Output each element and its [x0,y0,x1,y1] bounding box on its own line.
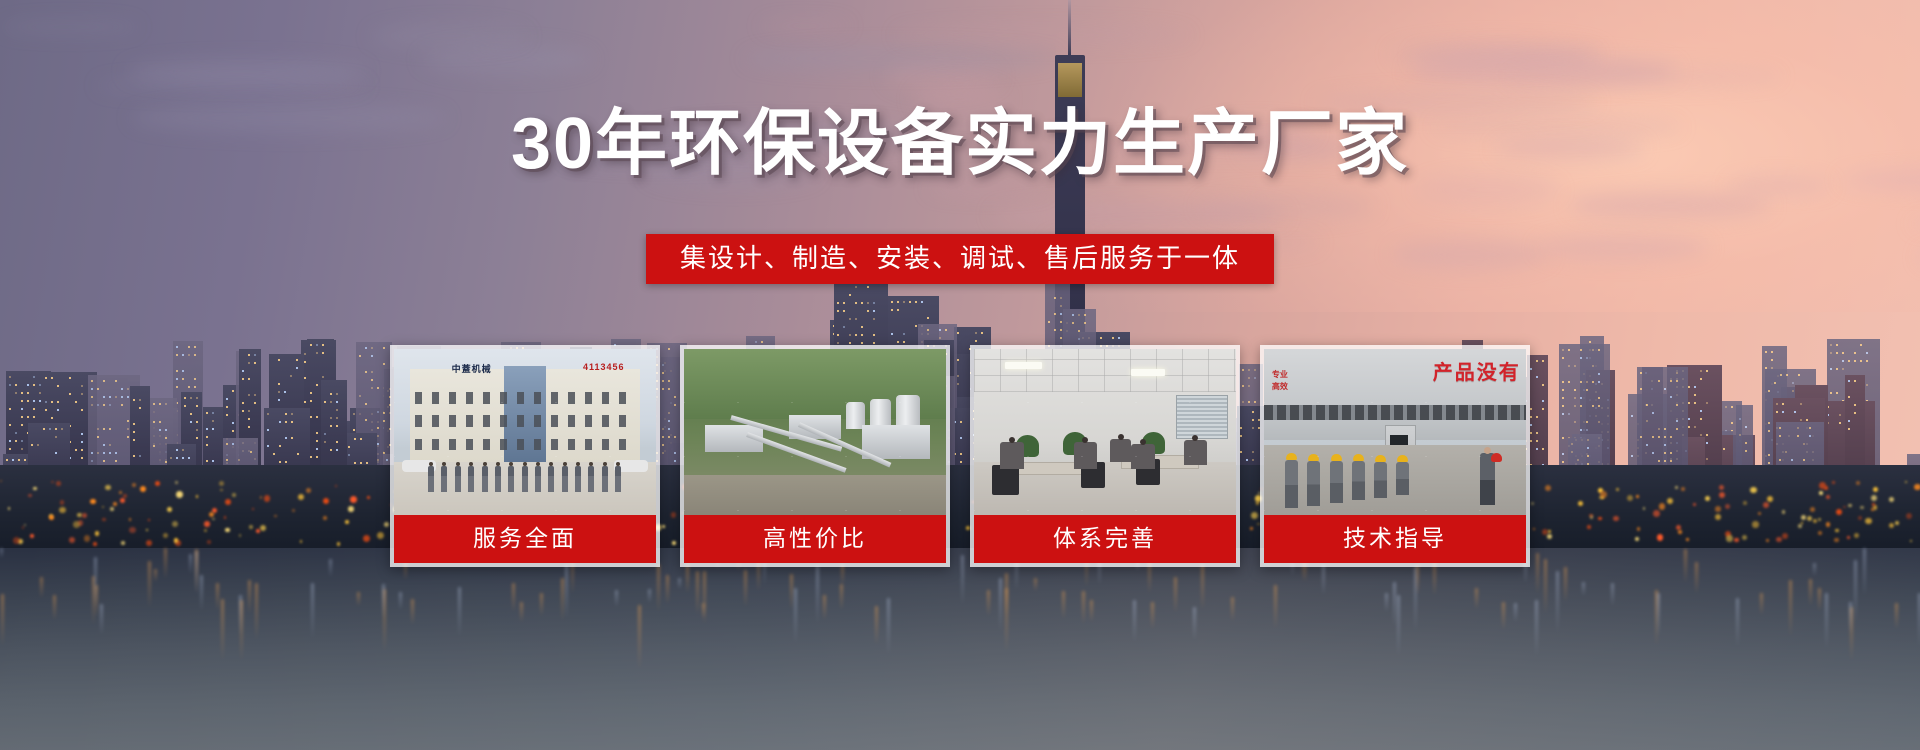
office-interior-staff-photo [974,349,1236,515]
factory-slogan-small: 专业高效 [1272,369,1288,393]
subtitle-block: 集设计、制造、安装、调试、售后服务于一体 [0,234,1920,284]
headline-block: 30年环保设备实力生产厂家 [0,108,1920,180]
river-water [0,548,1920,750]
feature-card[interactable]: 高性价比 [680,345,950,567]
red-helmet [1491,453,1502,462]
subtitle-banner: 集设计、制造、安装、调试、售后服务于一体 [646,234,1274,284]
factory-signage: 产品没有 [1433,356,1521,385]
company-headquarters-building-photo: 中蓋机械 4113456 [394,349,656,515]
feature-card[interactable]: 中蓋机械 4113456 服务全面 [390,345,660,567]
feature-card-label: 服务全面 [394,515,656,563]
building-phone-number: 4113456 [583,362,625,372]
feature-card[interactable]: 体系完善 [970,345,1240,567]
feature-card-list: 中蓋机械 4113456 服务全面 [390,345,1530,567]
feature-card-label: 技术指导 [1264,515,1526,563]
aerial-production-plant-photo [684,349,946,515]
building-signage: 中蓋机械 [452,362,492,375]
feature-card-label: 高性价比 [684,515,946,563]
factory-workers-briefing-photo: 专业高效 产品没有 [1264,349,1526,515]
feature-card-label: 体系完善 [974,515,1236,563]
page-title: 30年环保设备实力生产厂家 [511,108,1409,180]
feature-card[interactable]: 专业高效 产品没有 技术指导 [1260,345,1530,567]
hero-banner: 30年环保设备实力生产厂家 集设计、制造、安装、调试、售后服务于一体 中蓋机械 … [0,0,1920,750]
